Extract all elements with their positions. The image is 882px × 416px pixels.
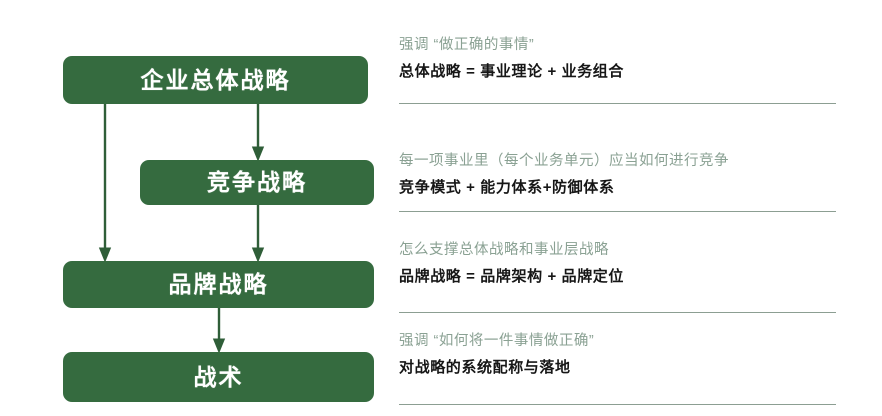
annotation-caption: 强调 “做正确的事情” — [399, 36, 836, 56]
annotation-formula: 竞争模式 + 能力体系+防御体系 — [399, 177, 836, 198]
annotation-tactics: 强调 “如何将一件事情做正确” 对战略的系统配称与落地 — [399, 332, 836, 378]
annotation-caption: 每一项事业里（每个业务单元）应当如何进行竞争 — [399, 152, 836, 172]
flow-node-label: 竞争战略 — [207, 171, 307, 194]
annotation-column: 强调 “做正确的事情” 总体战略 = 事业理论 + 业务组合 每一项事业里（每个… — [399, 0, 839, 416]
annotation-formula: 总体战略 = 事业理论 + 业务组合 — [399, 61, 836, 82]
flow-node-corporate-strategy[interactable]: 企业总体战略 — [63, 56, 368, 104]
strategy-hierarchy-flow: 企业总体战略 竞争战略 品牌战略 战术 — [0, 0, 395, 416]
annotation-formula: 对战略的系统配称与落地 — [399, 357, 836, 378]
annotation-divider — [399, 103, 836, 104]
flow-node-tactics[interactable]: 战术 — [63, 352, 374, 402]
annotation-divider — [399, 312, 836, 313]
annotation-formula: 品牌战略 = 品牌架构 + 品牌定位 — [399, 266, 836, 287]
flow-node-label: 战术 — [194, 366, 244, 389]
annotation-caption: 强调 “如何将一件事情做正确” — [399, 332, 836, 352]
annotation-brand-strategy: 怎么支撑总体战略和事业层战略 品牌战略 = 品牌架构 + 品牌定位 — [399, 241, 836, 287]
flow-node-brand-strategy[interactable]: 品牌战略 — [63, 261, 374, 308]
annotation-divider — [399, 404, 836, 405]
diagram-canvas: 企业总体战略 竞争战略 品牌战略 战术 强调 “做正确的事情” 总体战略 = 事… — [0, 0, 882, 416]
annotation-competitive-strategy: 每一项事业里（每个业务单元）应当如何进行竞争 竞争模式 + 能力体系+防御体系 — [399, 152, 836, 198]
annotation-caption: 怎么支撑总体战略和事业层战略 — [399, 241, 836, 261]
flow-node-competitive-strategy[interactable]: 竞争战略 — [140, 160, 374, 205]
flow-node-label: 品牌战略 — [169, 273, 269, 296]
annotation-divider — [399, 211, 836, 212]
annotation-corporate-strategy: 强调 “做正确的事情” 总体战略 = 事业理论 + 业务组合 — [399, 36, 836, 82]
flow-node-label: 企业总体战略 — [141, 69, 291, 92]
